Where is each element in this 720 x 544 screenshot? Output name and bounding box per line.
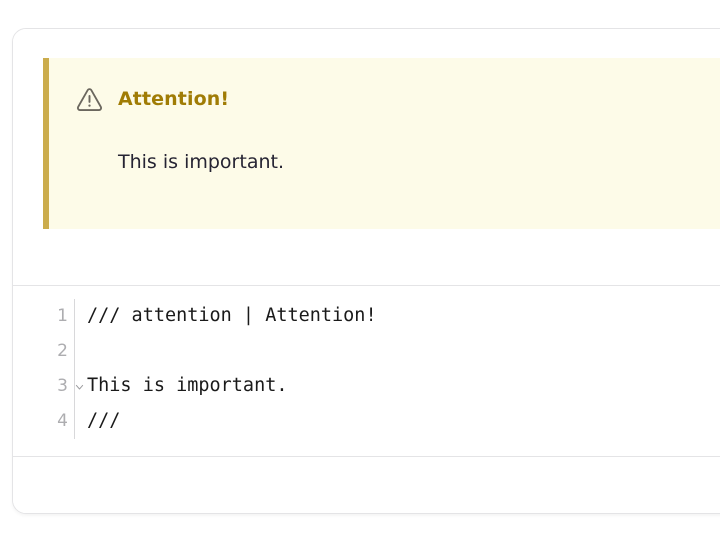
gutter-line-1[interactable]: 1	[13, 299, 74, 334]
admonition-header: Attention!	[75, 85, 229, 114]
admonition-title: Attention!	[118, 90, 229, 109]
source-editor[interactable]: 1 2 3 4	[13, 287, 720, 457]
admonition-attention: Attention! This is important.	[43, 58, 720, 229]
code-line[interactable]: ///	[87, 404, 720, 439]
line-number: 1	[57, 308, 68, 325]
code-line[interactable]: /// attention | Attention!	[87, 299, 720, 334]
markdown-preview-card: Attention! This is important. 1 2 3	[12, 28, 720, 514]
code-area[interactable]: 1 2 3 4	[13, 299, 720, 439]
admonition-body-text: This is important.	[118, 151, 284, 175]
line-number: 2	[57, 343, 68, 360]
preview-pane: Attention! This is important.	[13, 29, 720, 286]
screenshot-root: Attention! This is important. 1 2 3	[0, 0, 720, 544]
code-line[interactable]	[87, 334, 720, 369]
line-number-gutter[interactable]: 1 2 3 4	[13, 299, 75, 439]
line-number: 4	[57, 413, 68, 430]
gutter-line-2[interactable]: 2	[13, 334, 74, 369]
warning-triangle-icon	[75, 85, 104, 114]
gutter-line-3[interactable]: 3	[13, 369, 74, 404]
gutter-line-4[interactable]: 4	[13, 404, 74, 439]
card-footer-strip	[13, 458, 720, 513]
code-text-column[interactable]: /// attention | Attention! This is impor…	[75, 299, 720, 439]
line-number: 3	[57, 378, 68, 395]
code-line[interactable]: This is important.	[87, 369, 720, 404]
